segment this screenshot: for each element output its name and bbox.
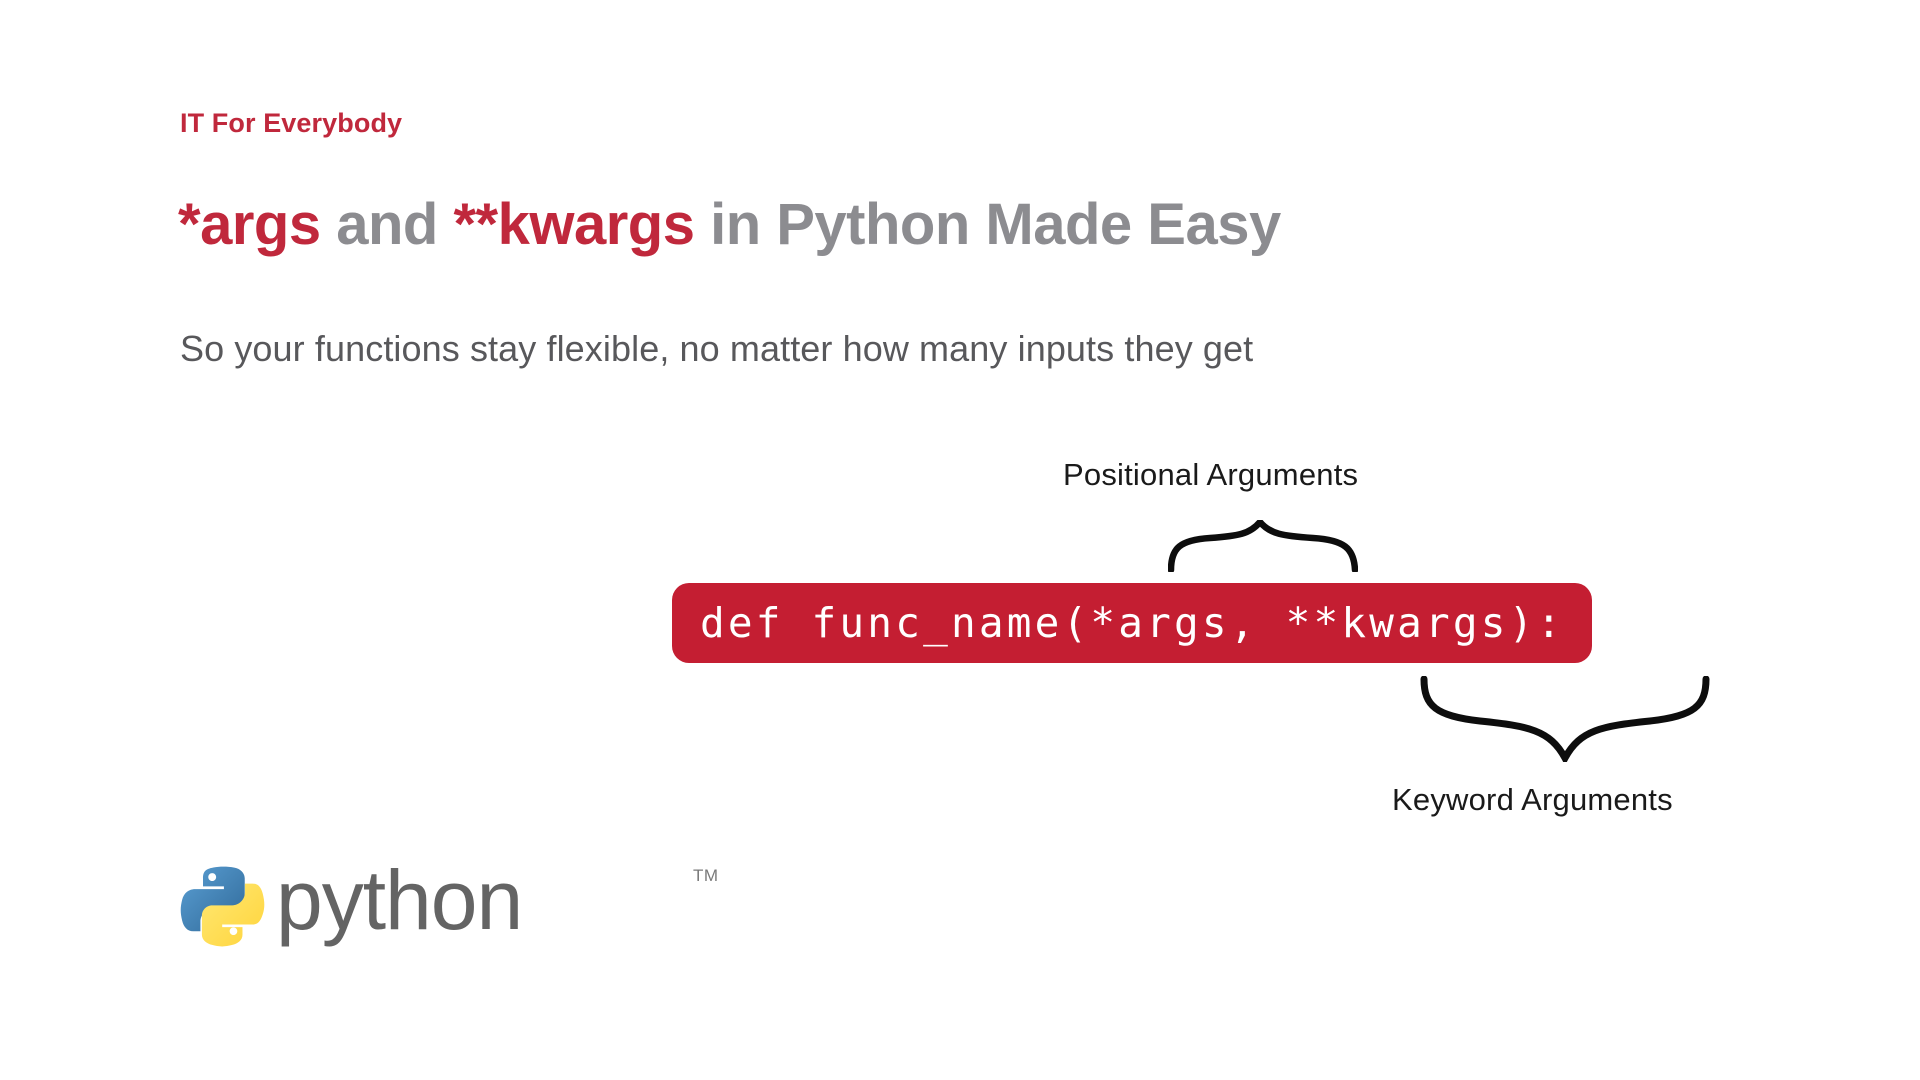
code-signature-block: def func_name(*args, **kwargs):	[672, 583, 1592, 663]
brace-down-icon	[1420, 676, 1710, 767]
python-logo-mark	[178, 864, 270, 961]
code-signature-text: def func_name(*args, **kwargs):	[700, 599, 1564, 647]
title-part-args: *args	[178, 192, 321, 257]
title-part-tail: in Python Made Easy	[694, 192, 1280, 257]
python-wordmark: python	[276, 858, 522, 942]
slide-canvas: IT For Everybody *args and **kwargs in P…	[0, 0, 1920, 1080]
page-title: *args and **kwargs in Python Made Easy	[178, 196, 1281, 254]
title-part-kwargs: **kwargs	[453, 192, 694, 257]
brand-eyebrow: IT For Everybody	[180, 108, 402, 139]
brace-up-icon	[1168, 520, 1358, 577]
python-trademark: TM	[693, 866, 719, 886]
annotation-label-keyword: Keyword Arguments	[1392, 782, 1673, 818]
page-subtitle: So your functions stay flexible, no matt…	[180, 328, 1253, 370]
annotation-label-positional: Positional Arguments	[1063, 457, 1358, 493]
title-part-and: and	[321, 192, 454, 257]
